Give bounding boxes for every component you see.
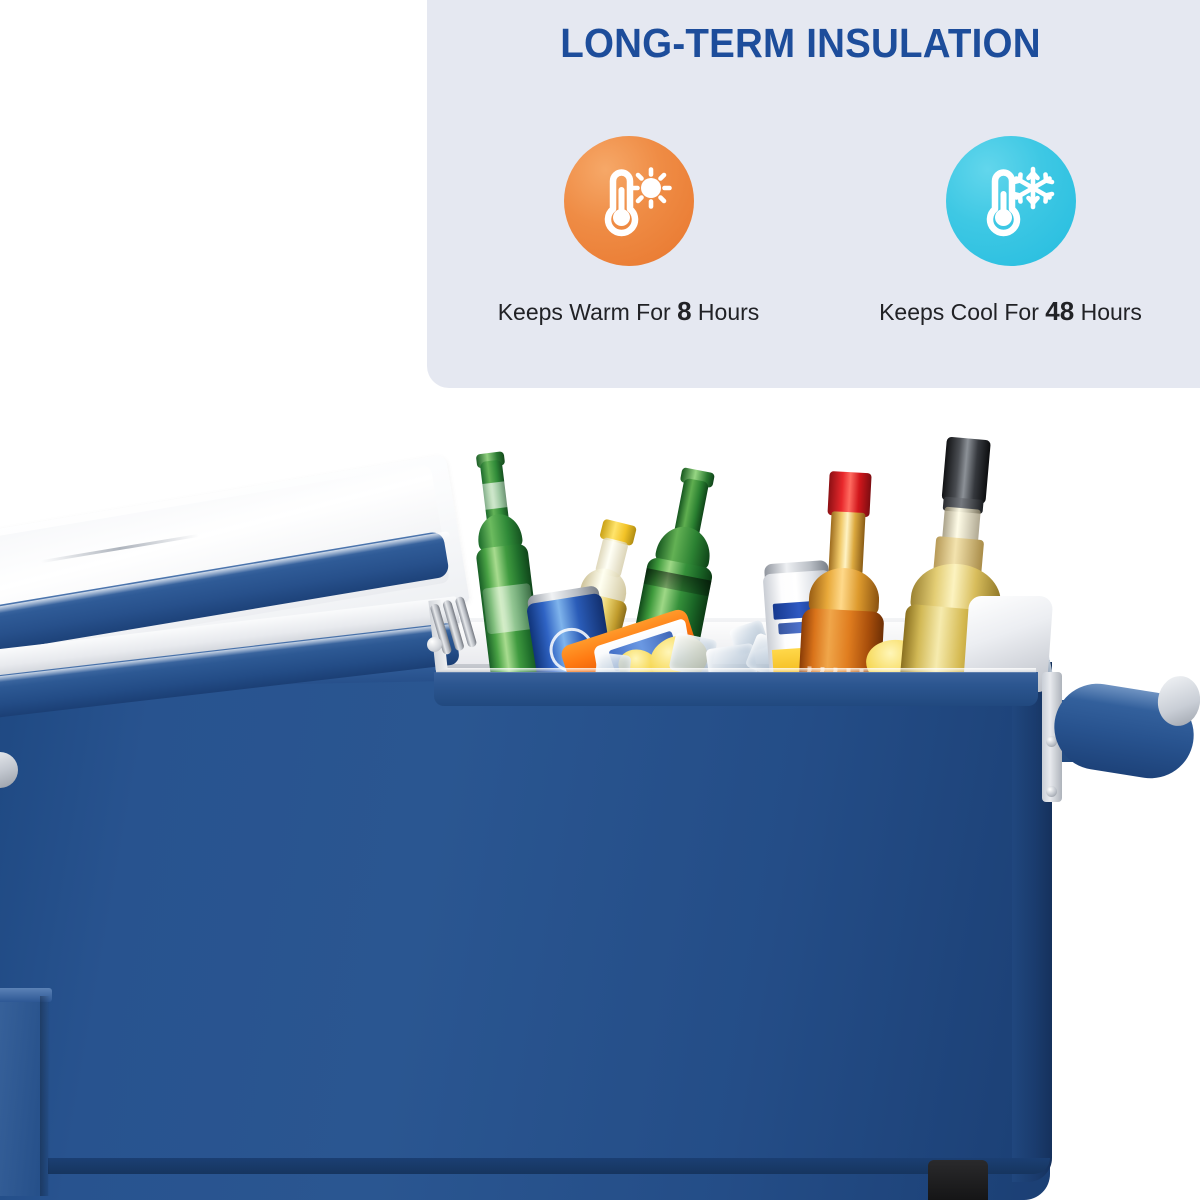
feature-keeps-cool: Keeps Cool For 48 Hours xyxy=(846,136,1176,327)
feature-list: Keeps Warm For 8 Hours xyxy=(455,136,1184,327)
cooler-basket-front-highlight xyxy=(436,668,1036,673)
caption-prefix-warm: Keeps Warm For xyxy=(498,299,677,325)
cooler-side-shelf-shadow xyxy=(40,996,50,1196)
caption-suffix-warm: Hours xyxy=(692,299,760,325)
product-feature-image: LONG-TERM INSULATION xyxy=(0,0,1200,1200)
cooler-leg xyxy=(928,1160,988,1200)
bottle-neck xyxy=(828,511,865,575)
caption-value-cool: 48 xyxy=(1045,296,1074,326)
thermometer-snowflake-icon xyxy=(946,136,1076,266)
cooler-hinge-cap xyxy=(427,637,442,652)
caption-value-warm: 8 xyxy=(677,296,691,326)
cooler-contents-group xyxy=(436,440,1056,688)
insulation-info-panel: LONG-TERM INSULATION xyxy=(427,0,1200,388)
bottle-cap-red xyxy=(827,471,871,517)
caption-prefix-cool: Keeps Cool For xyxy=(879,299,1045,325)
cooler-side-handle xyxy=(1050,668,1196,808)
bottle-cap-black xyxy=(941,437,990,505)
feature-caption-warm: Keeps Warm For 8 Hours xyxy=(498,296,760,327)
cooler-basket-front-wall xyxy=(434,672,1038,706)
cooler-body-front-panel xyxy=(0,660,1050,1200)
feature-keeps-warm: Keeps Warm For 8 Hours xyxy=(464,136,794,327)
thermometer-sun-icon xyxy=(564,136,694,266)
bottle-neck-label xyxy=(475,480,514,510)
page-title: LONG-TERM INSULATION xyxy=(449,20,1151,67)
caption-suffix-cool: Hours xyxy=(1074,299,1142,325)
feature-caption-cool: Keeps Cool For 48 Hours xyxy=(879,296,1142,327)
cooler-body-bottom-lip xyxy=(0,1158,1050,1174)
